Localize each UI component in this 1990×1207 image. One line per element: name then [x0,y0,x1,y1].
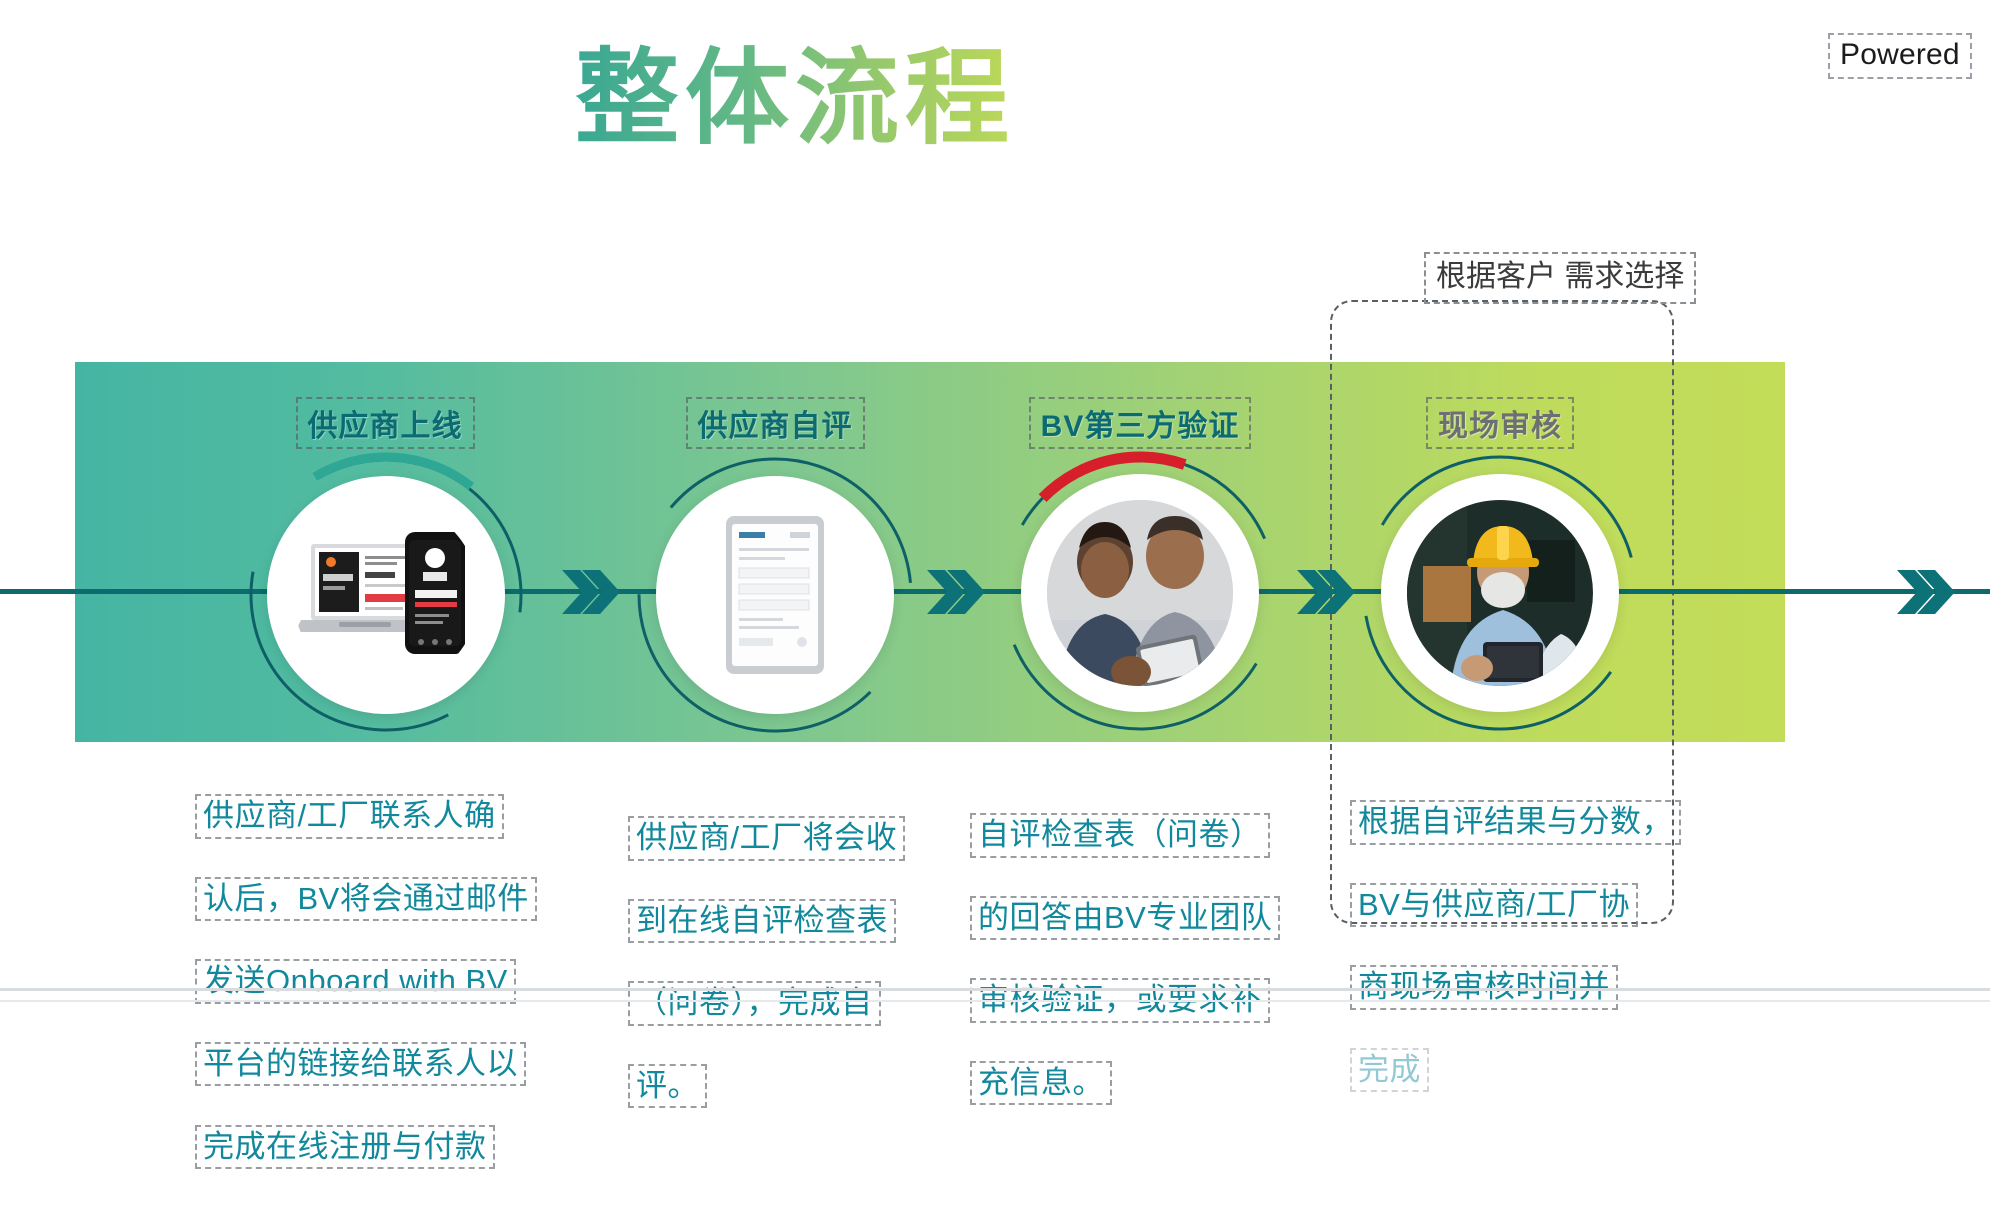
caption-bv-third-party-verification: 自评检查表（问卷） 的回答由BV专业团队 审核验证，或要求补 充信息。 [970,773,1280,1144]
step-onsite-audit[interactable]: 现场审核 [1335,362,1665,449]
chevron-connector-end [1895,566,1955,618]
step3-image [1047,500,1233,686]
step1-image [293,502,479,688]
step3-photo-disc [1021,474,1259,712]
step2-photo-disc [656,476,894,714]
chevron-connector-2 [925,566,985,618]
customer-need-note: 根据客户 需求选择 [1424,252,1696,304]
step1-photo-disc [267,476,505,714]
caption-supplier-onboarding: 供应商/工厂联系人确 认后，BV将会通过邮件 发送Onboard with BV… [195,754,537,1207]
step-title-supplier-onboarding: 供应商上线 [296,397,475,449]
caption-onsite-audit: 根据自评结果与分数， BV与供应商/工厂协 商现场审核时间并 完成 [1350,760,1681,1131]
powered-badge: Powered [1828,33,1972,79]
step-bv-third-party-verification[interactable]: BV第三方验证 [975,362,1305,449]
chevron-connector-3 [1295,566,1355,618]
step4-photo-disc [1381,474,1619,712]
step4-image [1407,500,1593,686]
step-title-onsite-audit: 现场审核 [1426,397,1574,449]
step-title-supplier-self-assessment: 供应商自评 [686,397,865,449]
step-supplier-self-assessment[interactable]: 供应商自评 [610,362,940,449]
caption-supplier-self-assessment: 供应商/工厂将会收 到在线自评检查表 （问卷），完成自 评。 [628,776,905,1147]
step-title-bv-third-party-verification: BV第三方验证 [1029,397,1252,449]
chevron-connector-1 [560,566,620,618]
step2-image [682,502,868,688]
footer-divider [0,988,1990,991]
step-supplier-onboarding[interactable]: 供应商上线 [220,362,550,449]
page-title: 整体流程 [575,42,1015,156]
footer-divider-secondary [0,1000,1990,1002]
